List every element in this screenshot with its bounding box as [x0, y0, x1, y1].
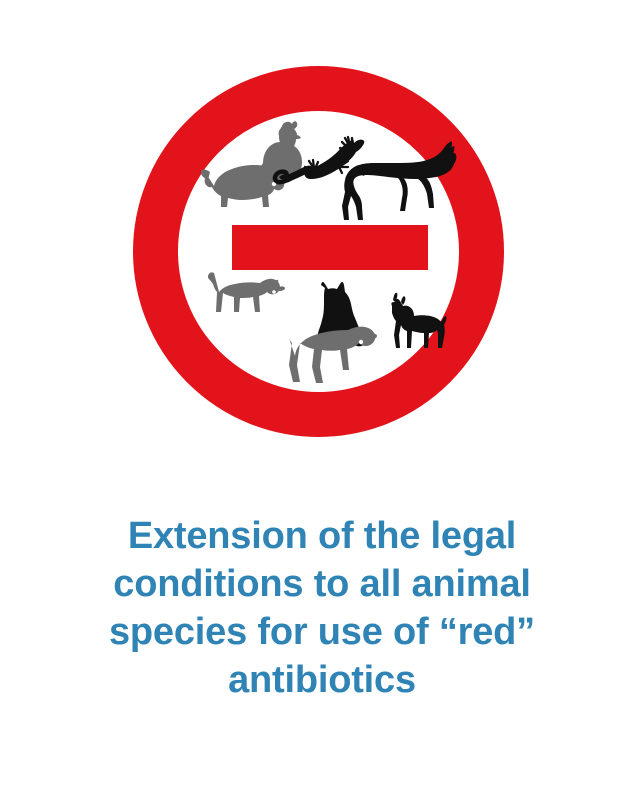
poster-root: Extension of the legal conditions to all… [0, 0, 644, 798]
sign-red-bar [232, 225, 428, 270]
caption-line-3: species for use of “red” [52, 608, 592, 656]
caption-line-4: antibiotics [52, 656, 592, 704]
prohibition-sign [133, 66, 504, 437]
poster-caption: Extension of the legal conditions to all… [52, 512, 592, 704]
caption-line-2: conditions to all animal [52, 560, 592, 608]
prohibition-sign-graphic [133, 66, 504, 437]
caption-line-1: Extension of the legal [52, 512, 592, 560]
